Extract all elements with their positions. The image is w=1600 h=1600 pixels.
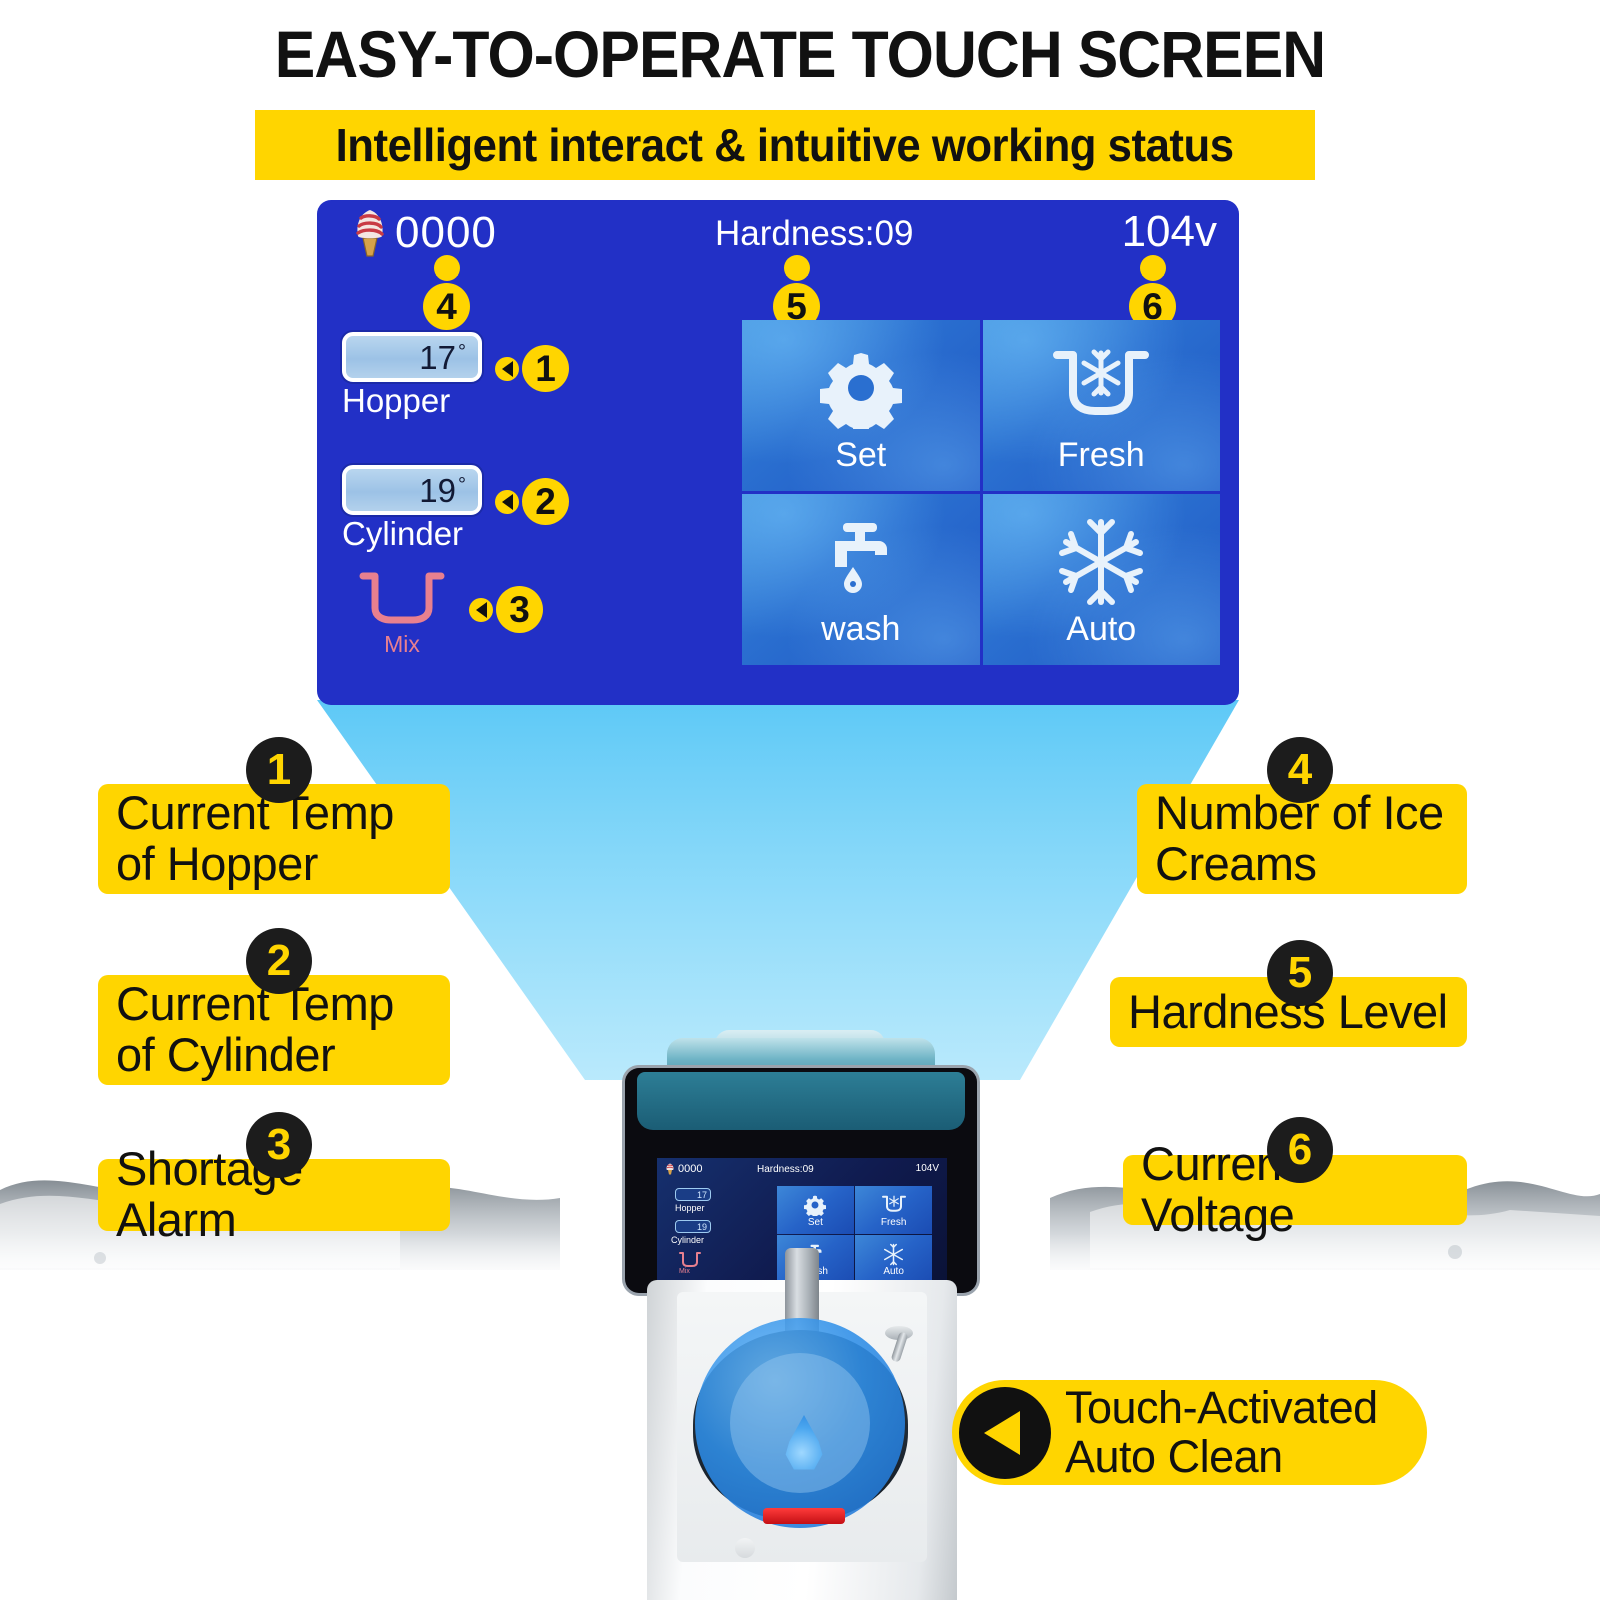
machine-drip-tray-knob xyxy=(735,1538,755,1558)
hopper-temp-value: 17 xyxy=(419,341,456,374)
machine-cylinder-temp-value: 19 xyxy=(697,1222,707,1232)
machine-tile-auto-label: Auto xyxy=(883,1267,904,1277)
hopper-readout: 17 ° Hopper xyxy=(342,332,482,419)
marker-4-number: 4 xyxy=(423,283,470,330)
tile-set[interactable]: Set xyxy=(742,320,980,491)
callout-3-badge: 3 xyxy=(246,1112,312,1178)
callout-5-badge: 5 xyxy=(1267,940,1333,1006)
machine-mix-trough-icon xyxy=(677,1251,703,1269)
callout-2-badge: 2 xyxy=(246,928,312,994)
subtitle-text: Intelligent interact & intuitive working… xyxy=(336,118,1234,172)
marker-2: 2 xyxy=(495,478,569,525)
machine-snowflake-icon xyxy=(882,1241,905,1267)
snowflake-icon xyxy=(1055,514,1147,610)
tile-wash[interactable]: wash xyxy=(742,494,980,665)
auto-clean-callout: Touch-Activated Auto Clean xyxy=(952,1380,1427,1485)
marker-6-arrow-icon xyxy=(1140,255,1166,281)
marker-6: 6 xyxy=(1129,255,1176,330)
tile-wash-label: wash xyxy=(821,612,900,646)
marker-2-arrow-icon xyxy=(495,490,519,514)
mix-label: Mix xyxy=(355,631,449,658)
machine-gear-icon xyxy=(804,1192,826,1218)
marker-1: 1 xyxy=(495,345,569,392)
machine-tile-set-label: Set xyxy=(808,1218,823,1228)
function-tile-grid: Set Fresh xyxy=(742,320,1220,665)
marker-1-arrow-icon xyxy=(495,357,519,381)
auto-clean-line2: Auto Clean xyxy=(1065,1433,1378,1482)
faucet-drop-icon xyxy=(817,514,905,610)
tile-auto[interactable]: Auto xyxy=(983,494,1221,665)
voltage-status-text: 104v xyxy=(1122,207,1217,257)
marker-3: 3 xyxy=(469,586,543,633)
machine-mix-label: Mix xyxy=(679,1268,690,1275)
ice-cream-cone-icon xyxy=(349,208,391,258)
machine-tile-fresh-label: Fresh xyxy=(881,1218,907,1228)
touch-screen-mockup: 0000 Hardness:09 104v 4 5 6 17 ° Hopper xyxy=(317,200,1239,705)
machine-trough-snowflake-icon xyxy=(881,1192,907,1218)
machine-hopper-temp-box[interactable]: 17 xyxy=(675,1188,711,1201)
hopper-label: Hopper xyxy=(342,384,482,419)
cylinder-degree-symbol: ° xyxy=(458,474,466,497)
hopper-temp-box[interactable]: 17 ° xyxy=(342,332,482,382)
machine-hopper-label: Hopper xyxy=(675,1203,705,1213)
machine-tile-auto[interactable]: Auto xyxy=(855,1235,932,1283)
machine-tile-set[interactable]: Set xyxy=(777,1186,854,1234)
tile-set-label: Set xyxy=(835,438,886,472)
cylinder-readout: 19 ° Cylinder xyxy=(342,465,482,552)
machine-count-value: 0000 xyxy=(678,1163,702,1175)
poster-root: EASY-TO-OPERATE TOUCH SCREEN Intelligent… xyxy=(0,0,1600,1600)
tile-fresh-label: Fresh xyxy=(1058,438,1145,472)
machine-hardness-text: Hardness:09 xyxy=(757,1164,814,1175)
machine-hopper-temp-value: 17 xyxy=(697,1190,707,1200)
machine-red-nozzle-ring xyxy=(763,1508,845,1524)
marker-4-arrow-icon xyxy=(434,255,460,281)
cylinder-label: Cylinder xyxy=(342,517,482,552)
marker-5: 5 xyxy=(773,255,820,330)
marker-4: 4 xyxy=(423,255,470,330)
tile-fresh[interactable]: Fresh xyxy=(983,320,1221,491)
hopper-degree-symbol: ° xyxy=(458,341,466,364)
cylinder-temp-box[interactable]: 19 ° xyxy=(342,465,482,515)
marker-3-number: 3 xyxy=(496,586,543,633)
subtitle-banner: Intelligent interact & intuitive working… xyxy=(255,110,1315,180)
ice-cream-count-value: 0000 xyxy=(395,208,497,258)
play-left-arrow-icon xyxy=(959,1387,1051,1479)
machine-ice-cream-cone-icon xyxy=(665,1163,675,1175)
hardness-status-text: Hardness:09 xyxy=(715,214,913,254)
machine-voltage-text: 104V xyxy=(916,1163,939,1174)
callout-1-text: Current Temp of Hopper xyxy=(116,788,432,890)
marker-1-number: 1 xyxy=(522,345,569,392)
auto-clean-line1: Touch-Activated xyxy=(1065,1384,1378,1433)
tile-auto-label: Auto xyxy=(1066,612,1136,646)
page-title: EASY-TO-OPERATE TOUCH SCREEN xyxy=(64,16,1536,92)
machine-cylinder-label: Cylinder xyxy=(671,1235,704,1245)
marker-5-arrow-icon xyxy=(784,255,810,281)
callout-4-text: Number of Ice Creams xyxy=(1155,788,1449,890)
trough-snowflake-icon xyxy=(1049,340,1153,436)
callout-6-badge: 6 xyxy=(1267,1117,1333,1183)
callout-1-badge: 1 xyxy=(246,737,312,803)
callout-2-text: Current Temp of Cylinder xyxy=(116,979,432,1081)
machine-tile-fresh[interactable]: Fresh xyxy=(855,1186,932,1234)
marker-3-arrow-icon xyxy=(469,598,493,622)
screen-status-bar: 0000 Hardness:09 104v xyxy=(317,200,1239,260)
gear-icon xyxy=(820,340,902,436)
marker-2-number: 2 xyxy=(522,478,569,525)
callout-4-badge: 4 xyxy=(1267,737,1333,803)
mix-indicator: Mix xyxy=(355,572,449,658)
slush-machine-illustration: 0000 Hardness:09 104V 17 Hopper 19 Cylin… xyxy=(585,1030,1015,1600)
auto-clean-text: Touch-Activated Auto Clean xyxy=(1065,1384,1378,1481)
machine-tank-top xyxy=(637,1072,965,1130)
mix-trough-icon xyxy=(355,572,449,633)
machine-cylinder-temp-box[interactable]: 19 xyxy=(675,1220,711,1233)
machine-screen-statusbar: 0000 Hardness:09 104V xyxy=(657,1162,947,1176)
cylinder-temp-value: 19 xyxy=(419,474,456,507)
